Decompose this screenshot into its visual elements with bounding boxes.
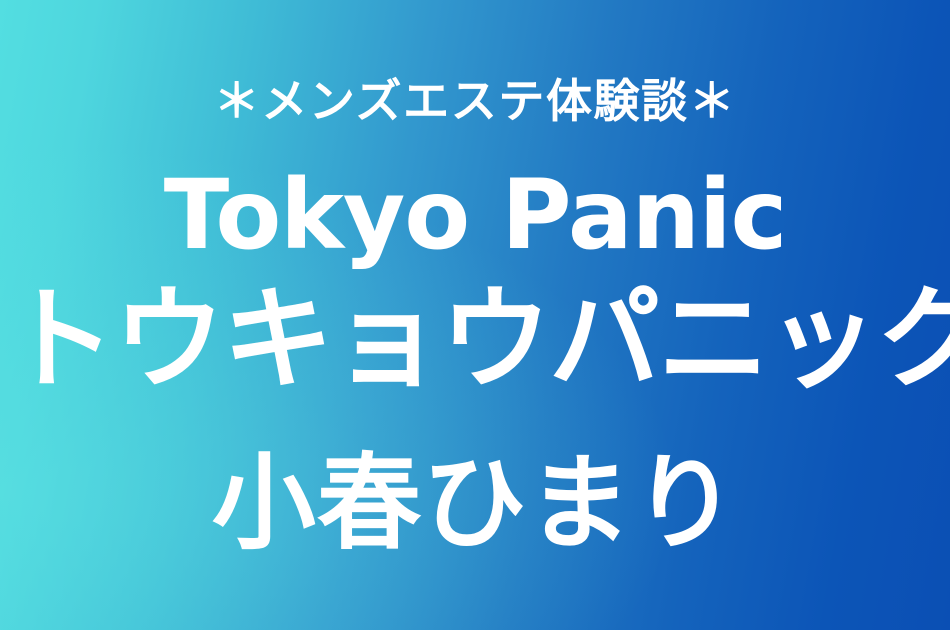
banner-performer-name: 小春ひまり xyxy=(0,451,950,555)
banner-text-stack: ＊メンズエステ体験談＊ Tokyo Panic トウキョウパニック 小春ひまり xyxy=(0,0,950,630)
banner-title-english: Tokyo Panic xyxy=(0,167,950,263)
banner-title-katakana: トウキョウパニック xyxy=(5,284,946,396)
promo-banner: ＊メンズエステ体験談＊ Tokyo Panic トウキョウパニック 小春ひまり xyxy=(0,0,950,630)
banner-tagline: ＊メンズエステ体験談＊ xyxy=(0,78,950,124)
